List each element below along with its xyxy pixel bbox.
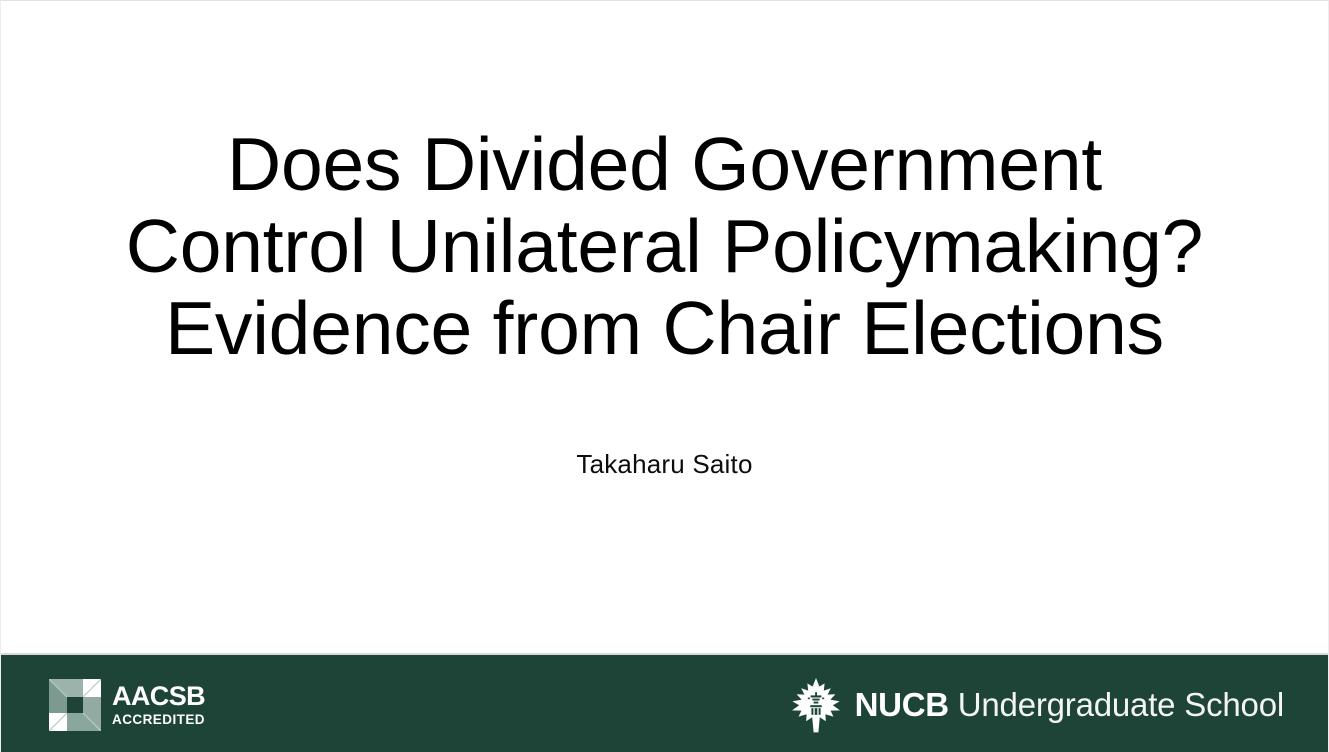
nucb-tagline: Undergraduate School	[958, 686, 1284, 724]
title-line-1: Does Divided Government	[1, 123, 1328, 205]
presentation-slide: Does Divided Government Control Unilater…	[0, 0, 1329, 752]
title-line-3: Evidence from Chair Elections	[1, 287, 1328, 369]
aacsb-logo: AACSB ACCREDITED	[49, 679, 205, 731]
nucb-name: NUCB	[855, 686, 949, 724]
aacsb-subtitle: ACCREDITED	[112, 713, 205, 727]
aacsb-name: AACSB	[112, 683, 205, 710]
maple-leaf-crest-icon	[791, 677, 841, 733]
title-line-2: Control Unilateral Policymaking?	[1, 205, 1328, 287]
author-name: Takaharu Saito	[1, 449, 1328, 480]
nucb-logo: NUCB Undergraduate School	[791, 677, 1284, 733]
aacsb-cube-icon	[49, 679, 101, 731]
slide-footer: AACSB ACCREDITED	[1, 655, 1328, 752]
nucb-wordmark: NUCB Undergraduate School	[855, 686, 1284, 724]
slide-title: Does Divided Government Control Unilater…	[1, 123, 1328, 369]
aacsb-wordmark: AACSB ACCREDITED	[112, 683, 205, 727]
